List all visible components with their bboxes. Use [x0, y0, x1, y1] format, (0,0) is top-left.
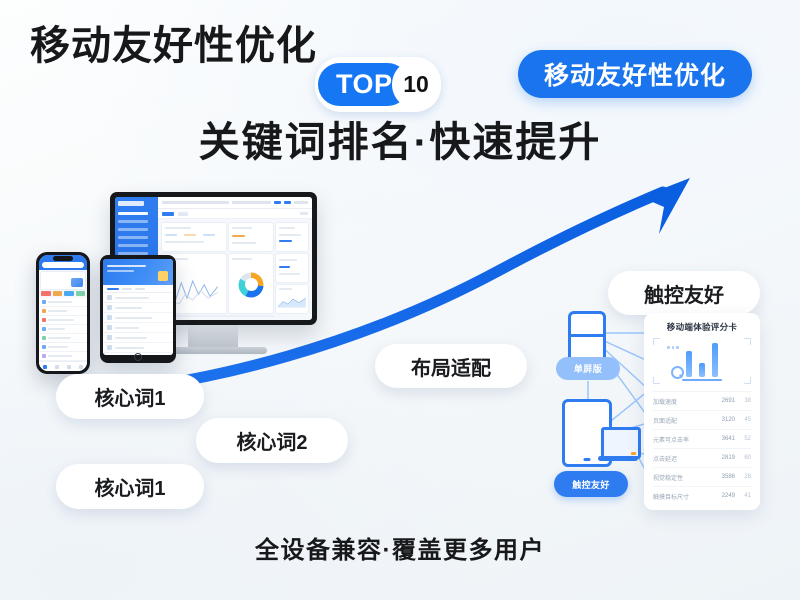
dashboard-nav-item — [118, 228, 148, 231]
list-item — [39, 325, 87, 334]
monitor-stand — [188, 325, 238, 347]
thumbnail-image — [71, 278, 83, 287]
score-card-rows: 加载速度269138页面适配312045元素可点击率364152点击延迟2819… — [653, 391, 751, 505]
tablet-hero-banner — [103, 259, 173, 285]
dashboard-card-filters — [162, 223, 226, 251]
tablet-tabbar — [103, 285, 173, 293]
dashboard-card-area1 — [276, 285, 308, 313]
topbar-spacer — [232, 201, 271, 204]
table-row: 触摸目标尺寸224941 — [653, 486, 751, 505]
page-title: 移动友好性优化 — [30, 26, 317, 66]
magnifier-icon — [671, 366, 684, 379]
list-item — [103, 323, 173, 333]
dashboard-topbar — [158, 197, 312, 209]
tablet-screen — [103, 259, 173, 355]
row-value: 3586 — [711, 474, 735, 480]
row-label: 页面适配 — [653, 416, 711, 425]
dashboard-nav-item — [118, 244, 148, 247]
list-item — [103, 333, 173, 343]
tag-pill-mobile-friendly: 移动友好性优化 — [518, 50, 752, 98]
row-score: 60 — [735, 455, 751, 461]
toolbar-button — [300, 212, 308, 215]
poster-canvas: 移动友好性优化 TOP 10 移动友好性优化 关键词排名·快速提升 — [0, 0, 800, 600]
dashboard-card-list — [276, 223, 308, 251]
badge-touch-friendly: 触控友好 — [554, 471, 628, 497]
row-score: 45 — [735, 417, 751, 423]
dashboard-card-donut — [229, 254, 273, 313]
phone-mockup — [36, 252, 90, 374]
top-rank-number: 10 — [395, 63, 438, 106]
list-item — [103, 343, 173, 353]
row-value: 3120 — [711, 417, 735, 423]
dashboard-logo — [118, 201, 144, 206]
row-score: 38 — [735, 398, 751, 404]
dashboard-widget-grid — [158, 219, 312, 320]
badge-single-screen: 单屏版 — [556, 357, 620, 380]
list-item — [103, 303, 173, 313]
list-item — [39, 316, 87, 325]
row-value: 2819 — [711, 455, 735, 461]
bar — [712, 343, 718, 377]
table-row: 元素可点击率364152 — [653, 429, 751, 448]
keyword-pill-3[interactable]: 核心词1 — [56, 464, 204, 509]
search-input — [42, 262, 84, 268]
row-score: 52 — [735, 436, 751, 442]
dashboard-card-kpi — [229, 223, 273, 251]
keyword-pill-1[interactable]: 核心词1 — [56, 374, 204, 419]
dashboard-nav-item — [118, 220, 148, 223]
monitor-base — [160, 347, 267, 354]
list-item — [103, 313, 173, 323]
toolbar-button — [178, 212, 188, 216]
row-value: 2691 — [711, 398, 735, 404]
hero-thumbnail — [158, 271, 168, 281]
chart-baseline — [682, 379, 722, 382]
device-mockup-group — [22, 192, 342, 397]
phone-category-chips — [39, 291, 87, 296]
list-item — [39, 334, 87, 343]
mobile-experience-illustration: 单屏版 触控友好 移动端体验评分卡 加载速度269138页面适配312045元素… — [548, 305, 760, 515]
row-value: 3641 — [711, 436, 735, 442]
top-rank-badge: TOP 10 — [315, 57, 441, 112]
list-item — [39, 307, 87, 316]
donut-chart-icon — [239, 272, 264, 297]
phone-screen — [39, 255, 87, 371]
topbar-user — [294, 201, 308, 204]
topbar-action-icon — [274, 201, 281, 204]
topbar-search — [162, 201, 229, 204]
table-row: 页面适配312045 — [653, 410, 751, 429]
table-row: 视觉稳定性358628 — [653, 467, 751, 486]
tablet-home-button — [134, 353, 142, 361]
footer-tagline: 全设备兼容·覆盖更多用户 — [0, 530, 800, 565]
row-score: 41 — [735, 493, 751, 499]
bar-group — [686, 341, 718, 377]
phone-feature-card — [41, 272, 85, 289]
dashboard-main — [158, 197, 312, 320]
list-item — [39, 298, 87, 307]
sparkle-dots-icon — [667, 346, 679, 349]
mini-laptop-icon — [598, 427, 638, 461]
row-value: 2249 — [711, 493, 735, 499]
area-chart-icon — [277, 292, 307, 312]
list-item — [39, 343, 87, 352]
row-label: 点击延迟 — [653, 454, 711, 463]
topbar-action-icon — [284, 201, 291, 204]
dashboard-nav-item — [118, 236, 148, 239]
table-row: 加载速度269138 — [653, 391, 751, 410]
score-card: 移动端体验评分卡 加载速度269138页面适配312045元素可点击率36415… — [644, 313, 760, 510]
row-score: 28 — [735, 474, 751, 480]
bar — [699, 363, 705, 377]
dashboard-card-stat — [276, 254, 308, 282]
phone-notch — [53, 256, 73, 261]
toolbar-primary-button — [162, 212, 174, 216]
list-item — [103, 293, 173, 303]
score-card-chart — [653, 338, 751, 384]
feature-pill-layout[interactable]: 布局适配 — [375, 344, 527, 388]
row-label: 加载速度 — [653, 397, 711, 406]
table-row: 点击延迟281960 — [653, 448, 751, 467]
dashboard-nav-item — [118, 212, 148, 215]
phone-tabbar — [39, 361, 87, 371]
tablet-mockup — [100, 255, 176, 363]
row-label: 元素可点击率 — [653, 435, 711, 444]
row-label: 视觉稳定性 — [653, 473, 711, 482]
bar — [686, 351, 692, 377]
score-card-title: 移动端体验评分卡 — [653, 321, 751, 333]
keyword-pill-2[interactable]: 核心词2 — [196, 418, 348, 463]
list-item — [39, 352, 87, 361]
row-label: 触摸目标尺寸 — [653, 492, 711, 501]
dashboard-toolbar — [158, 209, 312, 219]
